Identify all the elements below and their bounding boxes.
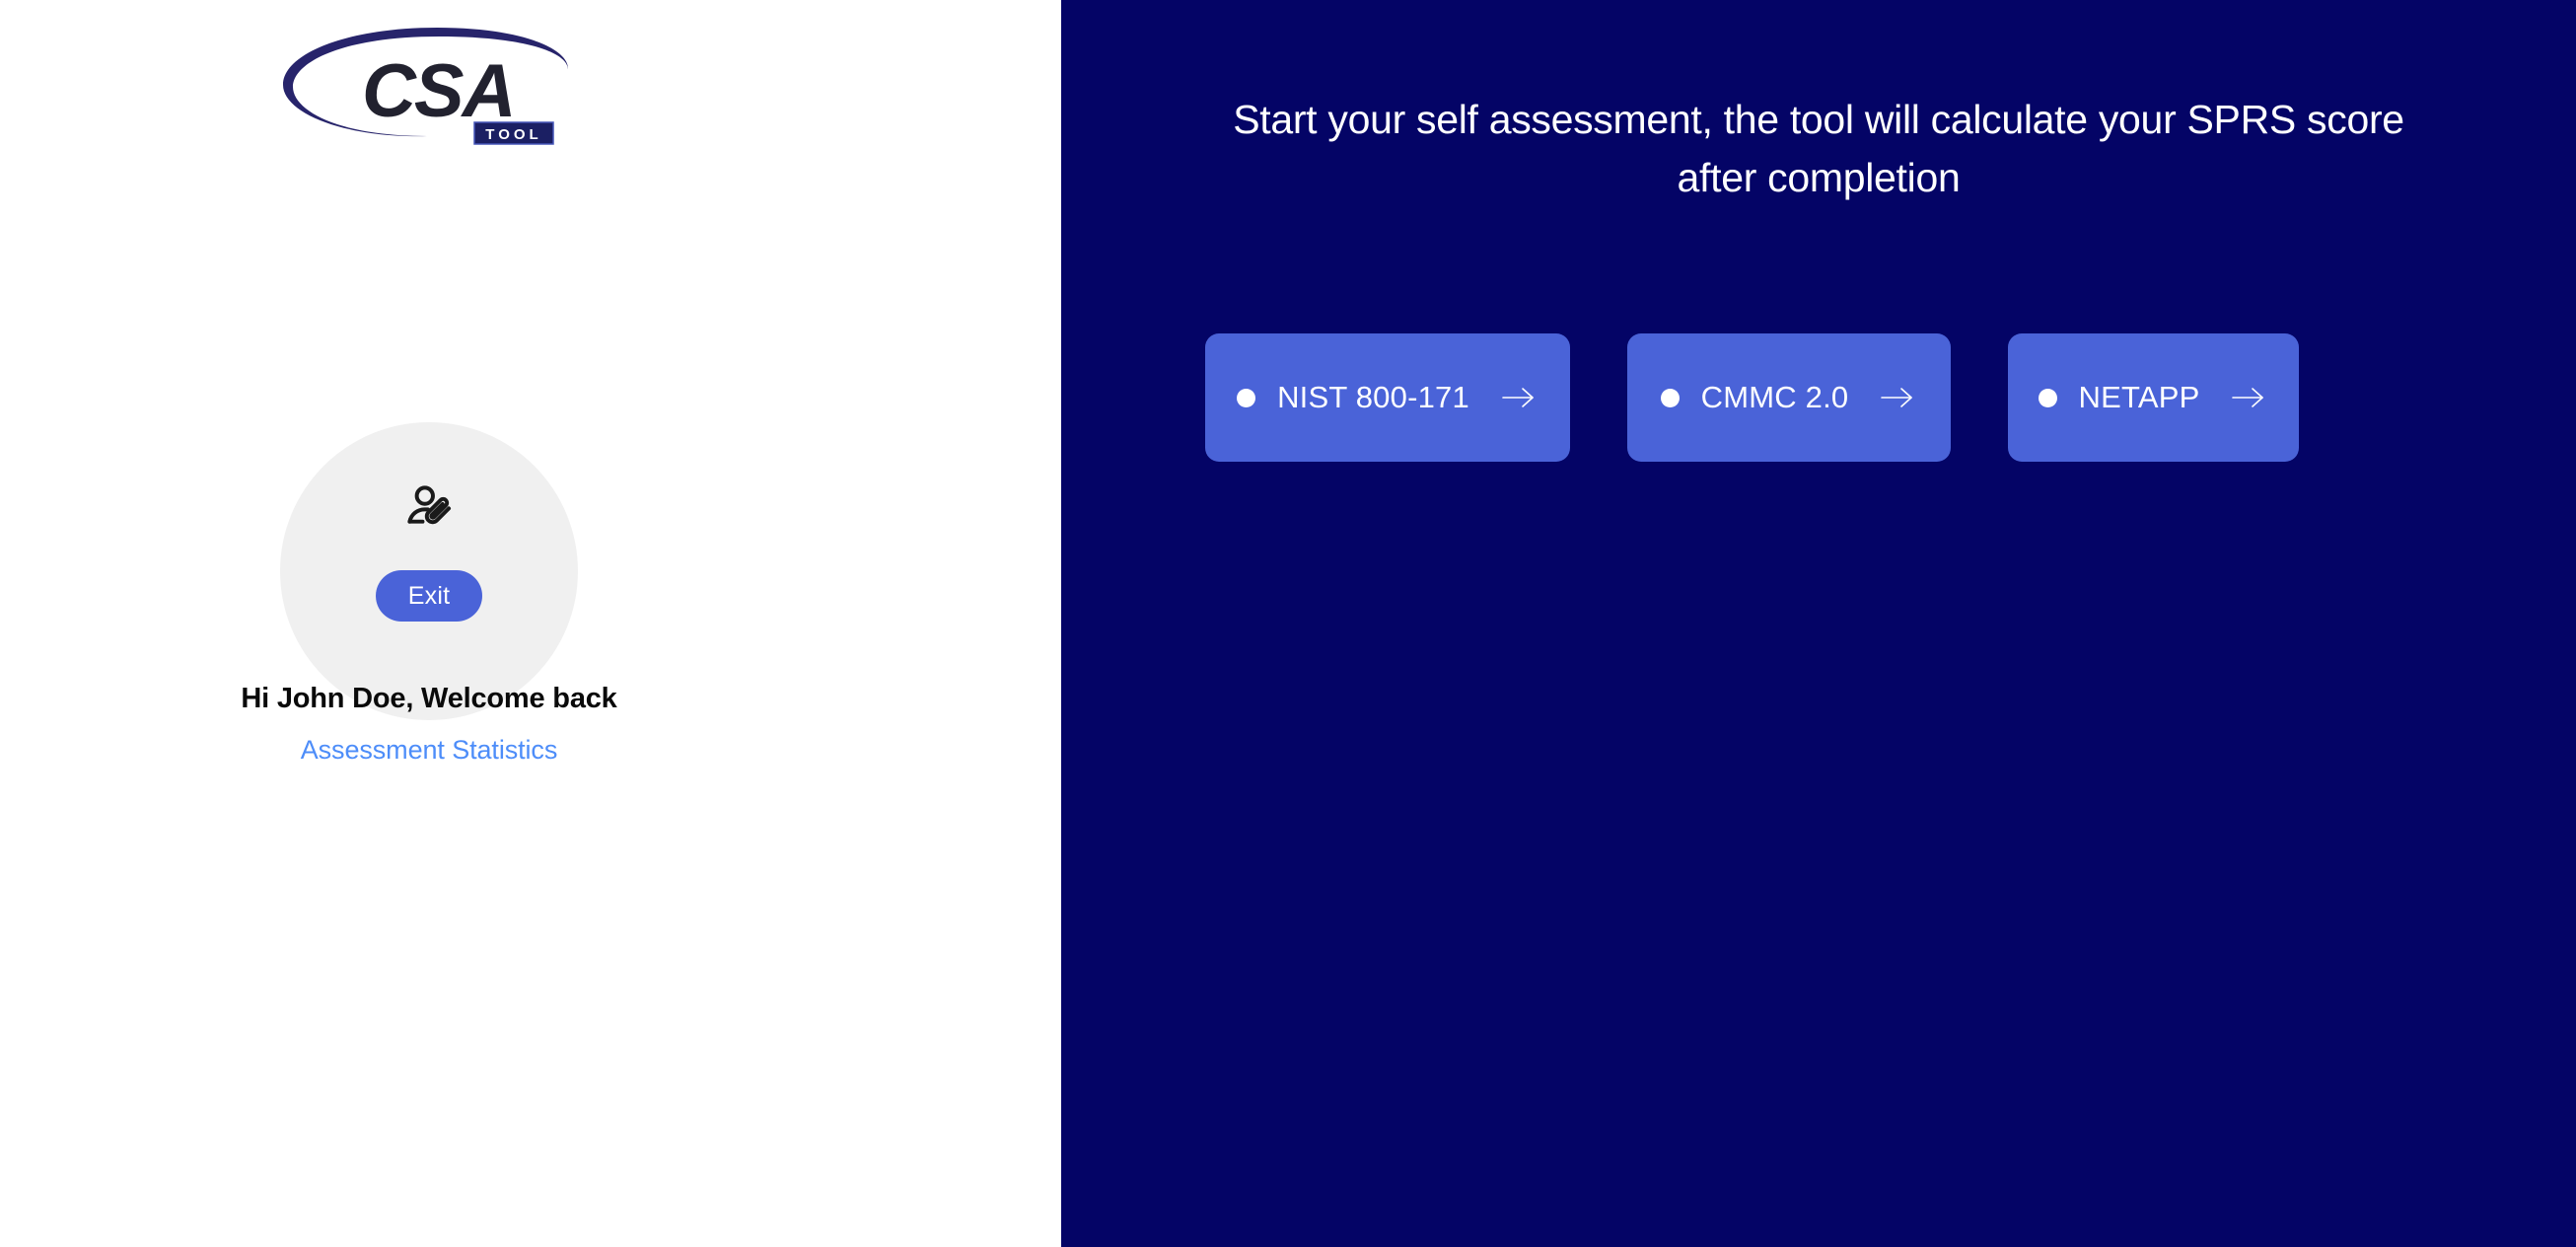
left-panel: CSA TOOL Exit Hi John Doe, Welcome back … — [0, 0, 1061, 1247]
page-title: Start your self assessment, the tool wil… — [1202, 91, 2435, 208]
assessment-button-nist[interactable]: NIST 800-171 — [1205, 333, 1570, 462]
logo-badge-label: TOOL — [485, 126, 541, 143]
csa-tool-logo[interactable]: CSA TOOL — [281, 18, 577, 156]
assessment-button-cmmc[interactable]: CMMC 2.0 — [1627, 333, 1951, 462]
assessment-button-label: NIST 800-171 — [1277, 380, 1469, 415]
arrow-right-icon — [1878, 383, 1917, 412]
avatar: Exit — [280, 422, 578, 720]
app-root: CSA TOOL Exit Hi John Doe, Welcome back … — [0, 0, 2576, 1247]
assessment-button-label: NETAPP — [2079, 380, 2200, 415]
exit-button[interactable]: Exit — [376, 570, 482, 622]
welcome-message: Hi John Doe, Welcome back — [0, 683, 858, 715]
right-panel: Start your self assessment, the tool wil… — [1061, 0, 2576, 1247]
assessment-button-label: CMMC 2.0 — [1701, 380, 1849, 415]
arrow-right-icon — [2229, 383, 2268, 412]
logo-icon: CSA TOOL — [281, 18, 577, 156]
bullet-dot-icon — [1237, 389, 1255, 407]
bullet-dot-icon — [2039, 389, 2057, 407]
logo-wordmark: CSA — [362, 49, 514, 133]
assessment-button-netapp[interactable]: NETAPP — [2008, 333, 2299, 462]
assessment-statistics-link[interactable]: Assessment Statistics — [0, 735, 858, 766]
user-attachment-icon — [401, 479, 457, 535]
bullet-dot-icon — [1661, 389, 1680, 407]
arrow-right-icon — [1499, 383, 1538, 412]
assessment-options: NIST 800-171 CMMC 2.0 NETAPP — [1205, 333, 2299, 462]
